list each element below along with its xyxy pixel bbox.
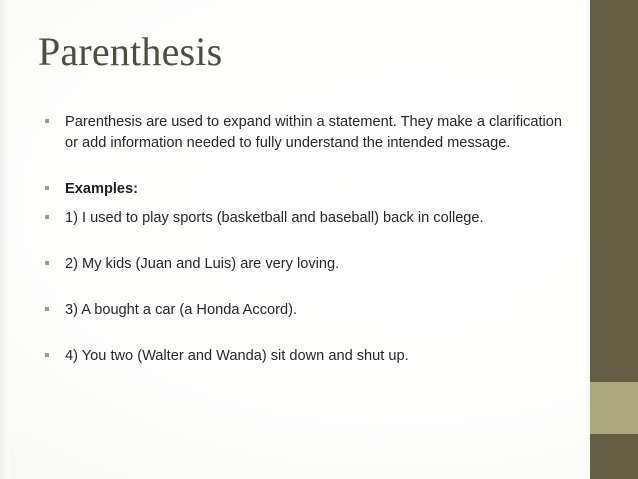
bullet-text: 3) A bought a car (a Honda Accord).: [65, 300, 564, 321]
slide-body: Parenthesis are used to expand within a …: [40, 112, 564, 367]
spacer: [40, 229, 564, 254]
bullet-marker-icon: [45, 307, 49, 311]
left-edge-strip: [0, 0, 9, 479]
bullet-item-definition: Parenthesis are used to expand within a …: [40, 112, 564, 154]
bullet-item-example-2: 2) My kids (Juan and Luis) are very lovi…: [40, 254, 564, 275]
bullet-item-example-3: 3) A bought a car (a Honda Accord).: [40, 300, 564, 321]
spacer: [40, 321, 564, 346]
bullet-text: Parenthesis are used to expand within a …: [65, 112, 564, 154]
bullet-item-examples-heading: Examples:: [40, 179, 564, 200]
bullet-marker-icon: [45, 186, 49, 190]
slide-canvas: Parenthesis Parenthesis are used to expa…: [0, 0, 638, 479]
page-title: Parenthesis: [38, 28, 558, 76]
spacer: [40, 154, 564, 179]
bullet-text: 2) My kids (Juan and Luis) are very lovi…: [65, 254, 564, 275]
bullet-text: 4) You two (Walter and Wanda) sit down a…: [65, 346, 564, 367]
bullet-marker-icon: [45, 119, 49, 123]
bullet-marker-icon: [45, 353, 49, 357]
right-decorative-bar-accent: [590, 382, 638, 434]
spacer: [40, 275, 564, 300]
bullet-marker-icon: [45, 261, 49, 265]
bullet-marker-icon: [45, 215, 49, 219]
bullet-item-example-1: 1) I used to play sports (basketball and…: [40, 208, 564, 229]
bullet-text: Examples:: [65, 179, 564, 200]
bullet-text: 1) I used to play sports (basketball and…: [65, 208, 564, 229]
bullet-item-example-4: 4) You two (Walter and Wanda) sit down a…: [40, 346, 564, 367]
spacer: [40, 200, 564, 208]
